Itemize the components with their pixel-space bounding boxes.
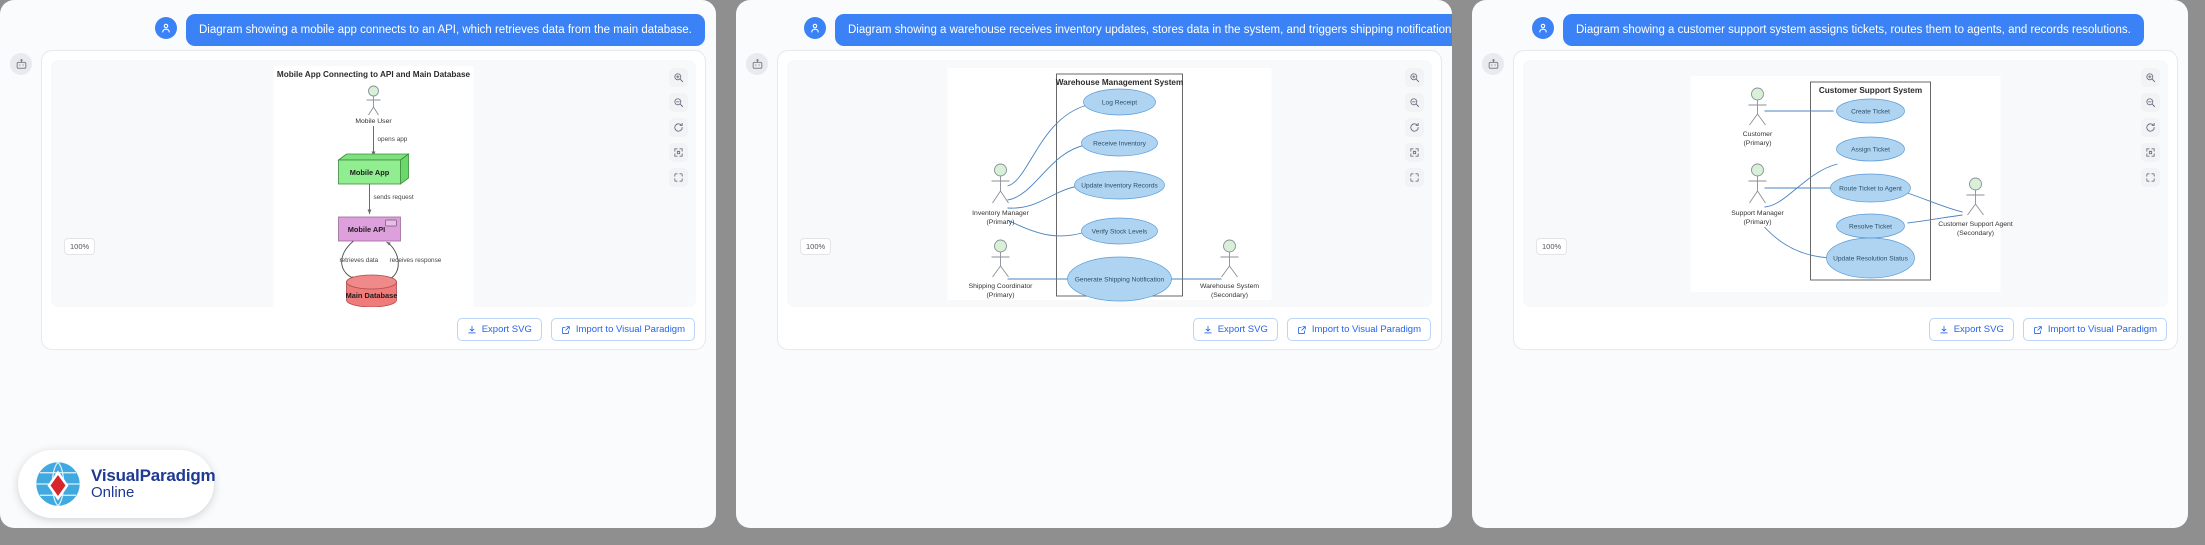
zoom-level-badge: 100% <box>800 238 831 255</box>
bot-avatar-icon <box>1482 53 1504 75</box>
fullscreen-icon[interactable] <box>669 168 688 187</box>
chat-panel-customer-support: Diagram showing a customer support syste… <box>1472 0 2188 528</box>
use-case-resolve-ticket: Resolve Ticket <box>1837 214 1905 238</box>
import-label: Import to Visual Paradigm <box>1312 324 1421 335</box>
use-case-update-inventory-records: Update Inventory Records <box>1075 171 1165 199</box>
import-label: Import to Visual Paradigm <box>2048 324 2157 335</box>
actor-name: Inventory Manager <box>972 210 1029 217</box>
edge-label: retrieves data <box>340 257 379 264</box>
user-avatar <box>155 17 177 39</box>
zoom-out-icon[interactable] <box>669 93 688 112</box>
user-message-row: Diagram showing a warehouse receives inv… <box>804 14 1452 46</box>
use-case-create-ticket: Create Ticket <box>1837 99 1905 123</box>
diagram-title: Mobile App Connecting to API and Main Da… <box>277 70 471 79</box>
node-mobile-app: Mobile App <box>339 154 409 184</box>
diagram-card: Customer Support System Create <box>1513 50 2178 350</box>
user-avatar <box>804 17 826 39</box>
use-case-label: Receive Inventory <box>1093 141 1146 148</box>
system-title: Customer Support System <box>1819 86 1922 95</box>
use-case-diagram: Warehouse Management System Lo <box>787 60 1432 307</box>
node-label: Mobile API <box>348 225 386 234</box>
use-case-log-receipt: Log Receipt <box>1084 89 1156 115</box>
user-message-row: Diagram showing a mobile app connects to… <box>155 14 705 46</box>
use-case-diagram: Customer Support System Create <box>1523 60 2168 307</box>
user-avatar <box>1532 17 1554 39</box>
diagram-card: Mobile App Connecting to API and Main Da… <box>41 50 706 350</box>
use-case-verify-stock-levels: Verify Stock Levels <box>1082 218 1158 244</box>
diagram-canvas[interactable]: Mobile App Connecting to API and Main Da… <box>51 60 696 307</box>
diagram-canvas[interactable]: Warehouse Management System Lo <box>787 60 1432 307</box>
zoom-in-icon[interactable] <box>2141 68 2160 87</box>
use-case-label: Log Receipt <box>1102 100 1137 107</box>
actor-name: Customer <box>1743 131 1773 138</box>
actor-name: Warehouse System <box>1200 283 1259 290</box>
diagram-svg-container: Warehouse Management System Lo <box>787 60 1432 307</box>
import-to-visual-paradigm-button[interactable]: Import to Visual Paradigm <box>1287 318 1431 341</box>
fullscreen-icon[interactable] <box>2141 168 2160 187</box>
node-label: Mobile App <box>350 168 390 177</box>
visual-paradigm-watermark: VisualParadigm Online <box>18 450 214 518</box>
zoom-out-icon[interactable] <box>2141 93 2160 112</box>
zoom-level-badge: 100% <box>64 238 95 255</box>
fit-screen-icon[interactable] <box>669 143 688 162</box>
fit-screen-icon[interactable] <box>1405 143 1424 162</box>
edge-label: opens app <box>378 136 408 143</box>
fullscreen-icon[interactable] <box>1405 168 1424 187</box>
import-to-visual-paradigm-button[interactable]: Import to Visual Paradigm <box>551 318 695 341</box>
deployment-diagram: Mobile App Connecting to API and Main Da… <box>51 60 696 307</box>
diagram-svg-container: Mobile App Connecting to API and Main Da… <box>51 60 696 307</box>
reset-icon[interactable] <box>2141 118 2160 137</box>
use-case-label: Update Inventory Records <box>1081 183 1158 190</box>
use-case-label: Verify Stock Levels <box>1092 229 1148 236</box>
use-case-generate-shipping-notification: Generate Shipping Notification <box>1068 257 1172 301</box>
screenshot-root: Diagram showing a mobile app connects to… <box>0 0 2205 545</box>
visual-paradigm-logo-icon <box>34 460 82 508</box>
actor-role: (Primary) <box>1744 219 1772 226</box>
bot-avatar-icon <box>746 53 768 75</box>
use-case-label: Route Ticket to Agent <box>1839 186 1902 193</box>
assistant-response-row: Customer Support System Create <box>1482 50 2178 350</box>
diagram-toolbar <box>1405 68 1424 187</box>
external-link-icon <box>2033 325 2043 335</box>
actor-name: Customer Support Agent <box>1938 221 2013 228</box>
export-svg-label: Export SVG <box>482 324 532 335</box>
node-label: Main Database <box>346 291 398 300</box>
zoom-in-icon[interactable] <box>669 68 688 87</box>
zoom-level-badge: 100% <box>1536 238 1567 255</box>
zoom-out-icon[interactable] <box>1405 93 1424 112</box>
reset-icon[interactable] <box>1405 118 1424 137</box>
use-case-label: Resolve Ticket <box>1849 224 1892 231</box>
user-message-bubble: Diagram showing a customer support syste… <box>1563 14 2144 46</box>
assistant-response-row: Mobile App Connecting to API and Main Da… <box>10 50 706 350</box>
watermark-line-2: Online <box>91 485 215 501</box>
user-message-bubble: Diagram showing a warehouse receives inv… <box>835 14 1452 46</box>
download-icon <box>1203 325 1213 335</box>
node-main-database: Main Database <box>346 275 398 307</box>
export-svg-label: Export SVG <box>1954 324 2004 335</box>
reset-icon[interactable] <box>669 118 688 137</box>
actor-role: (Secondary) <box>1211 292 1248 299</box>
diagram-svg-container: Customer Support System Create <box>1523 60 2168 307</box>
diagram-canvas[interactable]: Customer Support System Create <box>1523 60 2168 307</box>
chat-panel-warehouse: Diagram showing a warehouse receives inv… <box>736 0 1452 528</box>
watermark-text: VisualParadigm Online <box>91 467 215 501</box>
assistant-response-row: Warehouse Management System Lo <box>746 50 1442 350</box>
actor-name: Shipping Coordinator <box>969 283 1034 290</box>
diagram-card: Warehouse Management System Lo <box>777 50 1442 350</box>
download-icon <box>1939 325 1949 335</box>
actor-role: (Primary) <box>987 292 1015 299</box>
use-case-receive-inventory: Receive Inventory <box>1082 130 1158 156</box>
export-svg-label: Export SVG <box>1218 324 1268 335</box>
system-title: Warehouse Management System <box>1056 78 1184 87</box>
actor-role: (Primary) <box>1744 140 1772 147</box>
actor-role: (Primary) <box>987 219 1015 226</box>
actor-role: (Secondary) <box>1957 230 1994 237</box>
card-footer: Export SVG Import to Visual Paradigm <box>1193 318 1431 341</box>
export-svg-button[interactable]: Export SVG <box>1193 318 1278 341</box>
import-label: Import to Visual Paradigm <box>576 324 685 335</box>
use-case-label: Update Resolution Status <box>1833 256 1908 263</box>
edge-label: sends request <box>374 194 414 201</box>
use-case-route-ticket-to-agent: Route Ticket to Agent <box>1831 174 1911 202</box>
chat-panel-mobile-app: Diagram showing a mobile app connects to… <box>0 0 716 528</box>
card-footer: Export SVG Import to Visual Paradigm <box>457 318 695 341</box>
external-link-icon <box>561 325 571 335</box>
actor-label: Mobile User <box>355 118 392 125</box>
fit-screen-icon[interactable] <box>2141 143 2160 162</box>
use-case-label: Create Ticket <box>1851 109 1890 116</box>
user-message-bubble: Diagram showing a mobile app connects to… <box>186 14 705 46</box>
export-svg-button[interactable]: Export SVG <box>1929 318 2014 341</box>
download-icon <box>467 325 477 335</box>
edge-label: receives response <box>390 257 442 264</box>
use-case-update-resolution-status: Update Resolution Status <box>1827 238 1915 278</box>
user-message-row: Diagram showing a customer support syste… <box>1532 14 2144 46</box>
diagram-toolbar <box>669 68 688 187</box>
import-to-visual-paradigm-button[interactable]: Import to Visual Paradigm <box>2023 318 2167 341</box>
node-mobile-api: Mobile API <box>339 217 401 241</box>
watermark-line-1: VisualParadigm <box>91 467 215 485</box>
use-case-assign-ticket: Assign Ticket <box>1837 137 1905 161</box>
use-case-label: Assign Ticket <box>1851 147 1890 154</box>
zoom-in-icon[interactable] <box>1405 68 1424 87</box>
actor-name: Support Manager <box>1731 210 1784 217</box>
export-svg-button[interactable]: Export SVG <box>457 318 542 341</box>
use-case-label: Generate Shipping Notification <box>1075 277 1165 284</box>
bot-avatar-icon <box>10 53 32 75</box>
diagram-toolbar <box>2141 68 2160 187</box>
card-footer: Export SVG Import to Visual Paradigm <box>1929 318 2167 341</box>
external-link-icon <box>1297 325 1307 335</box>
